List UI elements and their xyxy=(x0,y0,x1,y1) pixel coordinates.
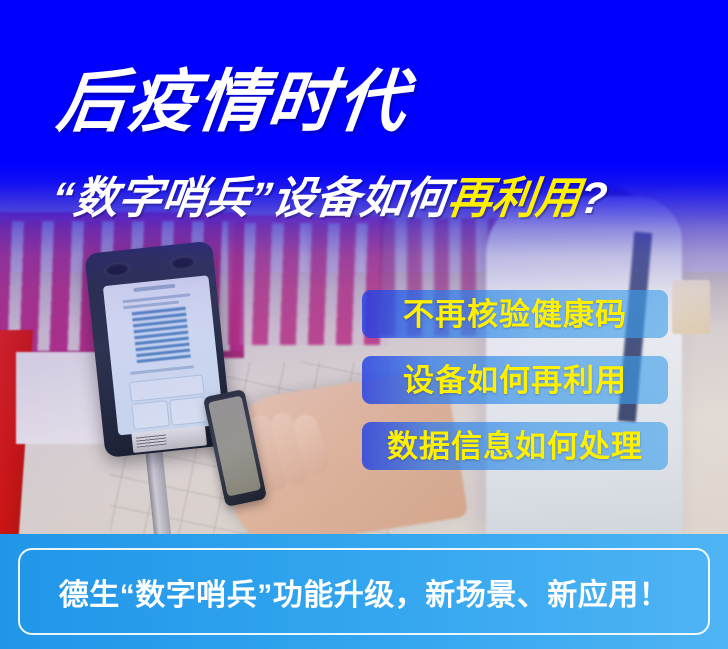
page-subtitle: “数字哨兵”设备如何再利用? xyxy=(49,175,610,223)
bottom-banner-text: 德生“数字哨兵”功能升级，新场景、新应用！ xyxy=(59,570,670,614)
kiosk-camera-right-icon xyxy=(169,254,196,271)
badge-label: 设备如何再利用 xyxy=(403,365,627,396)
badge-item-1[interactable]: 不再核验健康码 xyxy=(362,290,668,338)
badge-item-2[interactable]: 设备如何再利用 xyxy=(362,356,668,404)
page-title: 后疫情时代 xyxy=(54,68,412,136)
kiosk-qr-code xyxy=(132,306,191,363)
subtitle-part-before: “数字哨兵”设备如何 xyxy=(49,174,451,223)
subtitle-highlight: 再利用 xyxy=(445,174,583,223)
person-id-badge xyxy=(672,280,710,334)
badge-label: 不再核验健康码 xyxy=(403,299,627,330)
poster-root: 后疫情时代 “数字哨兵”设备如何再利用? 不再核验健康码 设备如何再利用 数据信… xyxy=(0,0,728,649)
bottom-banner: 德生“数字哨兵”功能升级，新场景、新应用！ xyxy=(0,534,728,649)
kiosk-screen-button xyxy=(169,396,208,426)
bottom-banner-frame: 德生“数字哨兵”功能升级，新场景、新应用！ xyxy=(18,548,710,635)
badge-item-3[interactable]: 数据信息如何处理 xyxy=(362,422,668,470)
badge-list: 不再核验健康码 设备如何再利用 数据信息如何处理 xyxy=(362,290,668,488)
badge-label: 数据信息如何处理 xyxy=(387,431,643,462)
kiosk-screen-title-bar xyxy=(133,284,175,292)
kiosk-camera-left-icon xyxy=(104,261,131,278)
kiosk-screen-button xyxy=(131,400,170,430)
kiosk-screen-line xyxy=(130,365,194,375)
